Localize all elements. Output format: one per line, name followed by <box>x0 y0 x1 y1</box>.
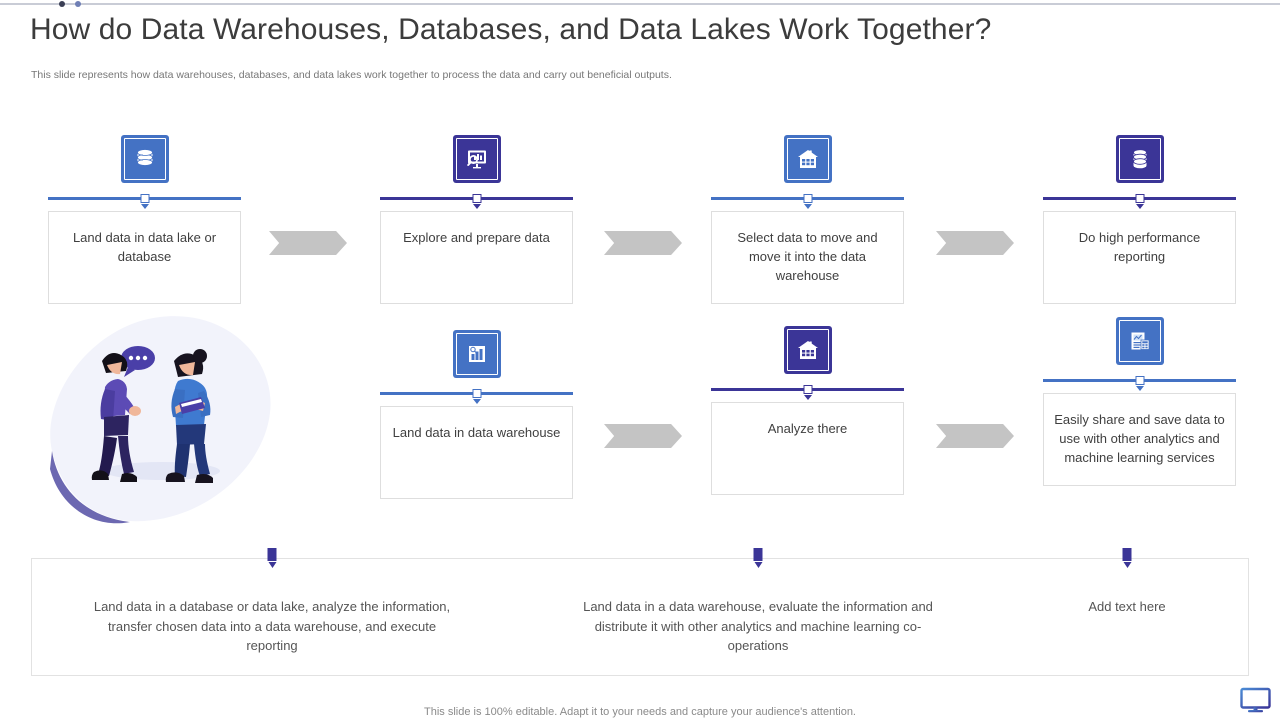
step-card-land-data-warehouse[interactable]: Land data in data warehouse <box>380 330 573 499</box>
chevron-arrow-icon <box>604 231 682 255</box>
step-card-select-data[interactable]: Select data to move and move it into the… <box>711 135 904 304</box>
panel-pin-marker <box>754 548 763 568</box>
monitor-icon[interactable] <box>1239 687 1272 713</box>
step-connector <box>1043 376 1236 390</box>
step-connector <box>48 194 241 208</box>
bar-chart-icon <box>453 330 501 378</box>
step-label: Land data in data warehouse <box>390 423 563 442</box>
page-title: How do Data Warehouses, Databases, and D… <box>30 13 991 47</box>
connector-knob[interactable] <box>803 385 812 394</box>
connector-knob[interactable] <box>140 194 149 203</box>
connector-knob[interactable] <box>472 389 481 398</box>
page-subtitle: This slide represents how data warehouse… <box>31 69 672 81</box>
step-box: Land data in data warehouse <box>380 406 573 499</box>
rail-handle-right[interactable] <box>75 1 81 7</box>
step-box: Analyze there <box>711 402 904 495</box>
footer-note: This slide is 100% editable. Adapt it to… <box>0 706 1280 718</box>
step-card-share-save-data[interactable]: Easily share and save data to use with o… <box>1043 317 1236 486</box>
step-card-analyze-there[interactable]: Analyze there <box>711 326 904 495</box>
chevron-arrow-icon <box>269 231 347 255</box>
step-label: Land data in data lake or database <box>58 228 231 266</box>
step-label: Analyze there <box>721 419 894 438</box>
step-label: Select data to move and move it into the… <box>721 228 894 285</box>
chevron-arrow-icon <box>936 424 1014 448</box>
step-connector <box>711 385 904 399</box>
step-box: Easily share and save data to use with o… <box>1043 393 1236 486</box>
connector-knob[interactable] <box>472 194 481 203</box>
warehouse-icon <box>784 326 832 374</box>
step-label: Do high performance reporting <box>1053 228 1226 266</box>
step-connector <box>380 389 573 403</box>
step-connector <box>711 194 904 208</box>
step-card-land-data-lake[interactable]: Land data in data lake or database <box>48 135 241 304</box>
panel-pin-marker <box>268 548 277 568</box>
report-share-icon <box>1116 317 1164 365</box>
connector-knob[interactable] <box>1135 376 1144 385</box>
bottom-summary-panel: Land data in a database or data lake, an… <box>31 558 1249 676</box>
summary-text-1: Land data in a database or data lake, an… <box>92 597 452 656</box>
step-card-high-performance-reporting[interactable]: Do high performance reporting <box>1043 135 1236 304</box>
chevron-arrow-icon <box>604 424 682 448</box>
step-connector <box>1043 194 1236 208</box>
chevron-arrow-icon <box>936 231 1014 255</box>
step-box: Land data in data lake or database <box>48 211 241 304</box>
connector-knob[interactable] <box>803 194 812 203</box>
summary-text-3: Add text here <box>997 597 1257 617</box>
warehouse-icon <box>784 135 832 183</box>
summary-text-2: Land data in a data warehouse, evaluate … <box>578 597 938 656</box>
step-box: Explore and prepare data <box>380 211 573 304</box>
step-box: Do high performance reporting <box>1043 211 1236 304</box>
selection-rail <box>0 3 1280 5</box>
step-card-explore-prepare[interactable]: Explore and prepare data <box>380 135 573 304</box>
search-presentation-icon <box>453 135 501 183</box>
connector-knob[interactable] <box>1135 194 1144 203</box>
database-icon <box>121 135 169 183</box>
database-icon <box>1116 135 1164 183</box>
step-box: Select data to move and move it into the… <box>711 211 904 304</box>
step-connector <box>380 194 573 208</box>
two-people-discussing-illustration <box>34 303 280 535</box>
slide-canvas: How do Data Warehouses, Databases, and D… <box>0 0 1280 720</box>
step-label: Easily share and save data to use with o… <box>1053 410 1226 467</box>
step-label: Explore and prepare data <box>390 228 563 247</box>
panel-pin-marker <box>1123 548 1132 568</box>
rail-handle-left[interactable] <box>59 1 65 7</box>
